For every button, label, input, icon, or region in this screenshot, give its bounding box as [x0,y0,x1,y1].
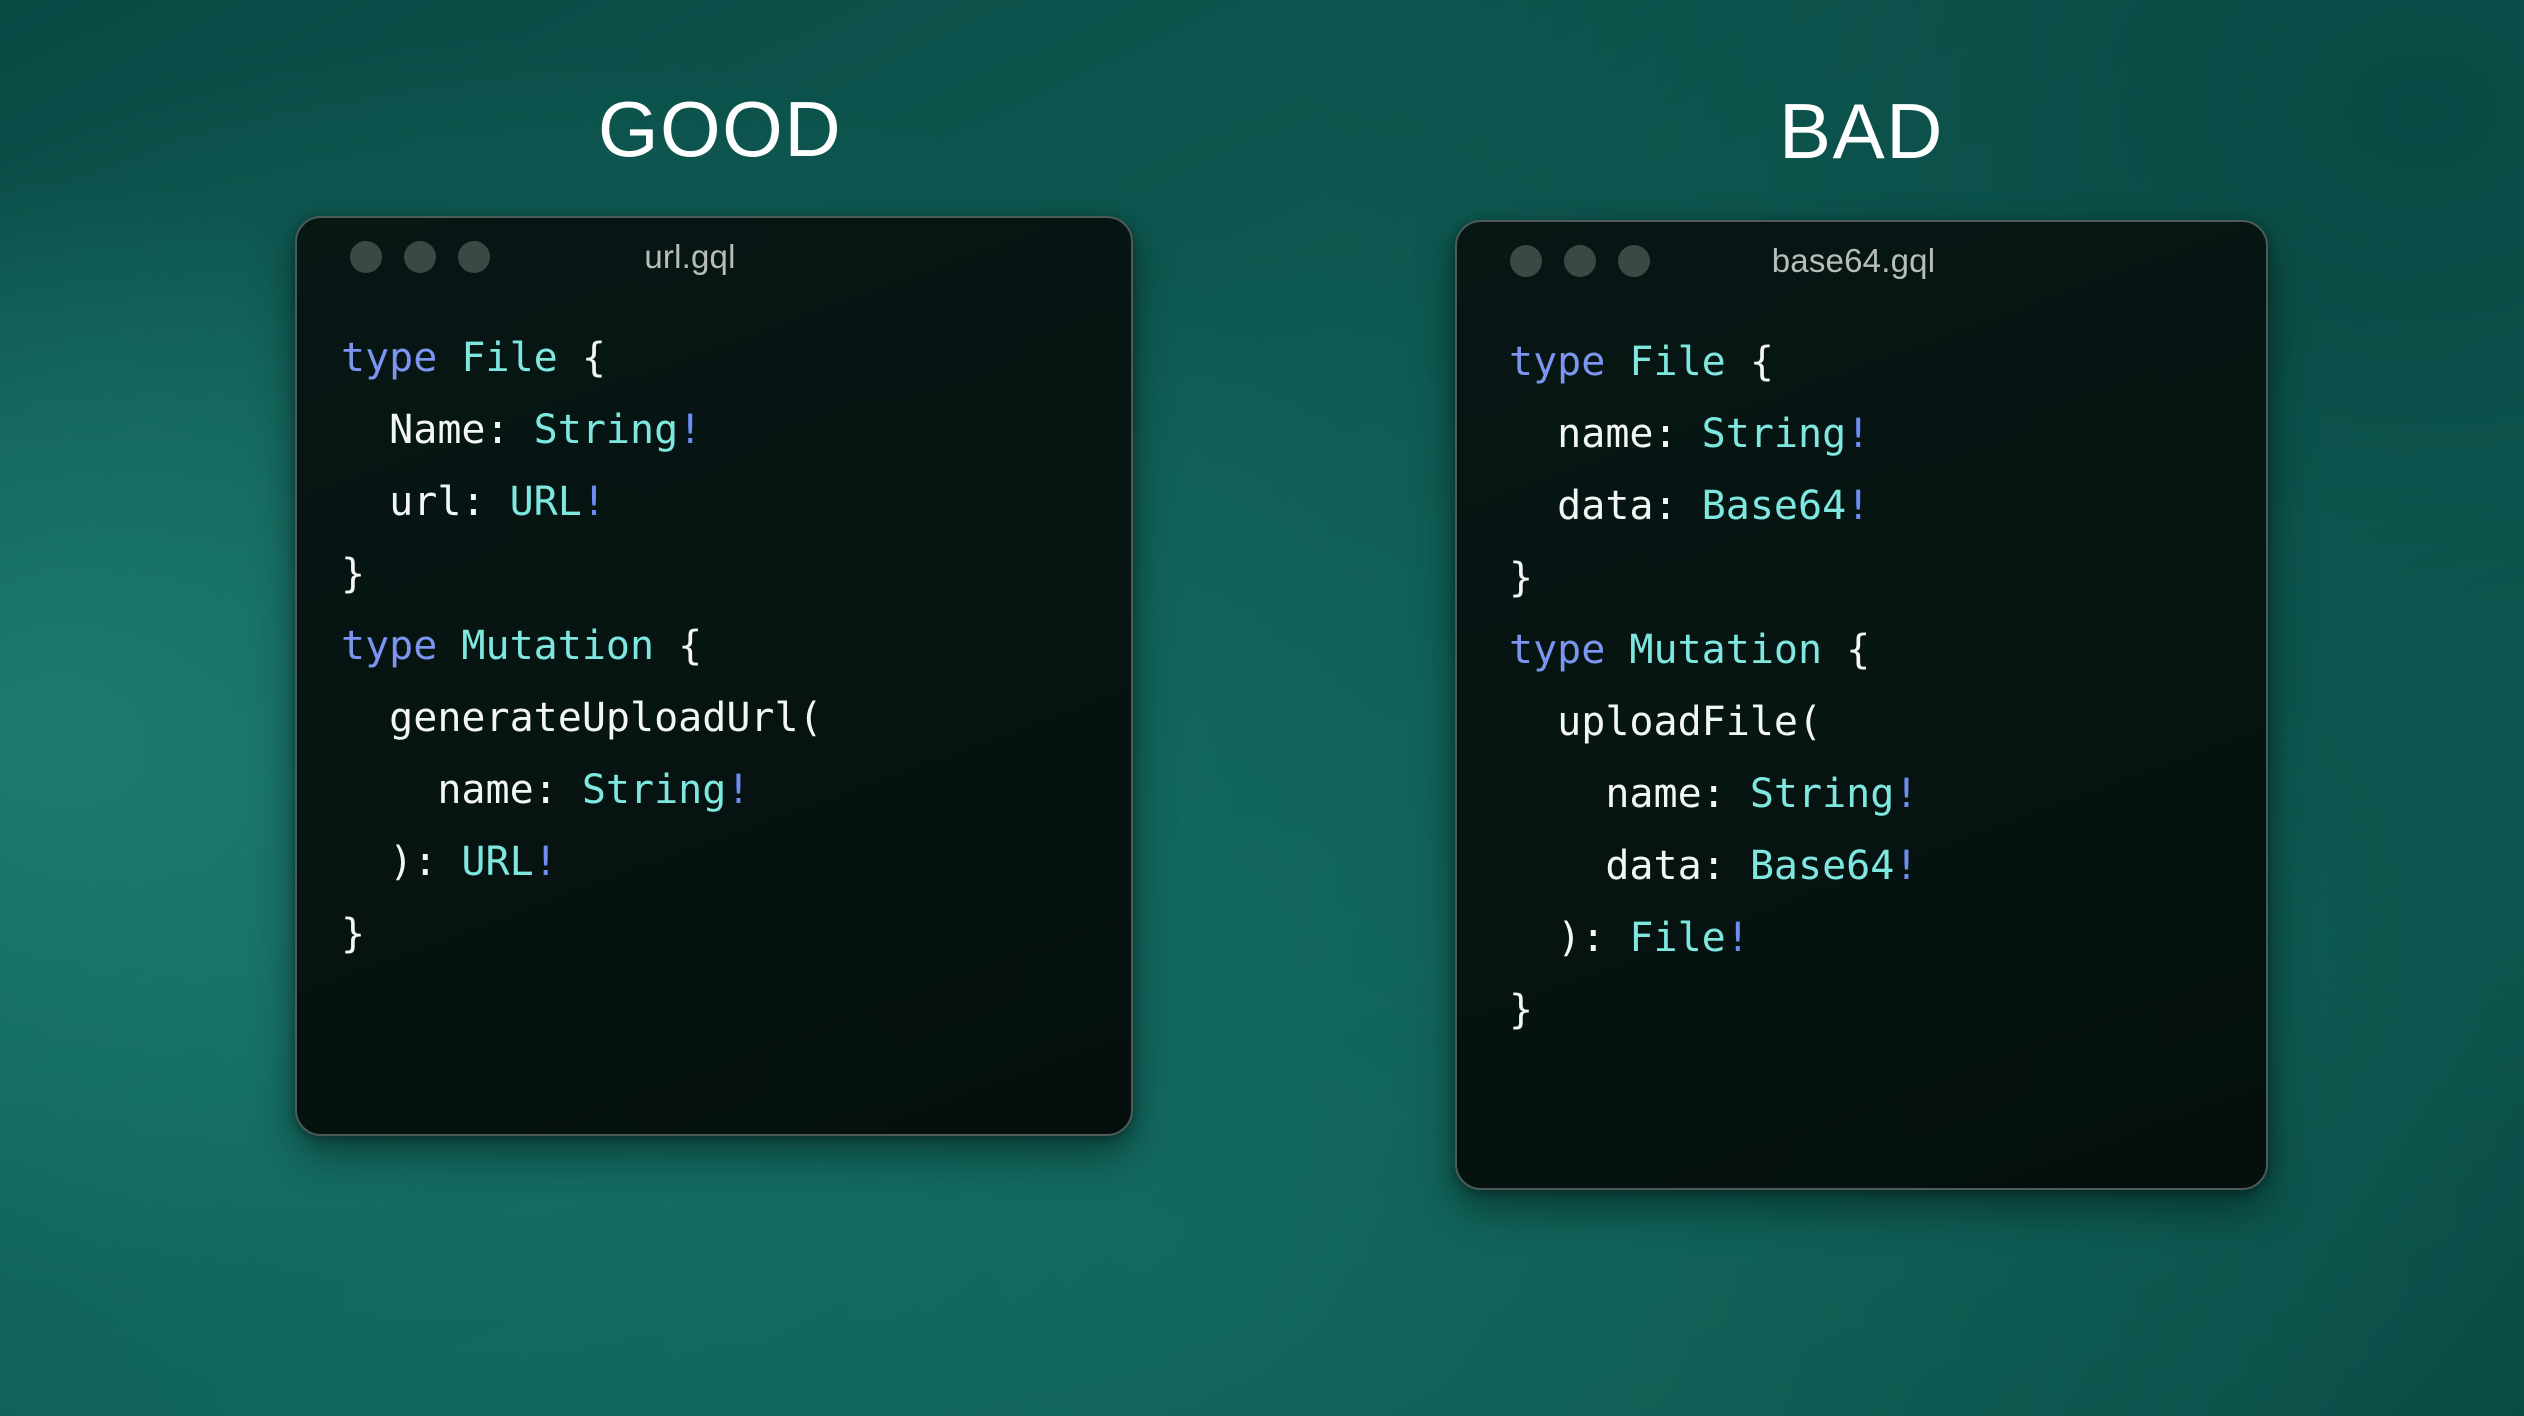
code-token: Base64 [1702,483,1847,529]
code-token [1605,339,1629,385]
minimize-dot-icon[interactable] [1564,245,1596,277]
close-dot-icon[interactable] [1510,245,1542,277]
code-token: File [1629,339,1725,385]
code-token: name: [1509,411,1702,457]
window-titlebar-bad: base64.gql [1457,222,2266,300]
code-line: name: String! [341,754,1131,826]
code-token [437,335,461,381]
maximize-dot-icon[interactable] [458,241,490,273]
code-line: type Mutation { [341,610,1131,682]
code-token: data: [1509,843,1750,889]
code-token [437,623,461,669]
code-token: ! [582,479,606,525]
code-line: } [1509,542,2266,614]
code-token: ! [1846,483,1870,529]
code-block-good: type File { Name: String! url: URL!}type… [297,296,1131,970]
code-line: url: URL! [341,466,1131,538]
code-token: { [558,335,606,381]
code-token: File [461,335,557,381]
code-line: } [341,898,1131,970]
code-card-good: url.gql type File { Name: String! url: U… [295,216,1133,1136]
code-token: Mutation [461,623,654,669]
code-token: String [582,767,727,813]
code-token: ! [1894,771,1918,817]
code-token: uploadFile( [1509,699,1822,745]
code-token: { [1822,627,1870,673]
code-token: ): [1509,915,1629,961]
maximize-dot-icon[interactable] [1618,245,1650,277]
code-line: name: String! [1509,758,2266,830]
code-token: Mutation [1629,627,1822,673]
code-token: type [341,623,437,669]
code-token: String [1750,771,1895,817]
code-token: } [341,911,365,957]
code-line: type File { [1509,326,2266,398]
window-controls-good [350,241,490,273]
code-token: ! [678,407,702,453]
code-token: name: [1509,771,1750,817]
code-token: url: [341,479,510,525]
window-titlebar-good: url.gql [297,218,1131,296]
code-token: { [654,623,702,669]
code-line: uploadFile( [1509,686,2266,758]
code-token [1605,627,1629,673]
close-dot-icon[interactable] [350,241,382,273]
code-token: String [534,407,679,453]
code-token: } [1509,987,1533,1033]
window-controls-bad [1510,245,1650,277]
code-line: Name: String! [341,394,1131,466]
code-line: data: Base64! [1509,470,2266,542]
code-line: } [1509,974,2266,1046]
code-line: type File { [341,322,1131,394]
code-token: URL [461,839,533,885]
code-token: generateUploadUrl( [341,695,823,741]
code-token: ): [341,839,461,885]
code-token: data: [1509,483,1702,529]
code-line: ): URL! [341,826,1131,898]
minimize-dot-icon[interactable] [404,241,436,273]
code-line: generateUploadUrl( [341,682,1131,754]
code-token: ! [534,839,558,885]
code-token: type [1509,339,1605,385]
code-token: ! [1726,915,1750,961]
code-card-bad: base64.gql type File { name: String! dat… [1455,220,2268,1190]
code-token: Base64 [1750,843,1895,889]
code-block-bad: type File { name: String! data: Base64!}… [1457,300,2266,1046]
code-token: Name: [341,407,534,453]
code-token: ! [1846,411,1870,457]
code-token: } [1509,555,1533,601]
code-token: name: [341,767,582,813]
code-token: } [341,551,365,597]
code-line: } [341,538,1131,610]
code-token: String [1702,411,1847,457]
panel-title-good: GOOD [300,90,1140,168]
comparison-slide: GOOD url.gql type File { Name: String! u… [0,0,2524,1416]
code-line: type Mutation { [1509,614,2266,686]
code-token: URL [510,479,582,525]
code-token: type [1509,627,1605,673]
code-token: ! [726,767,750,813]
code-token: ! [1894,843,1918,889]
code-token: type [341,335,437,381]
code-token: { [1726,339,1774,385]
code-line: ): File! [1509,902,2266,974]
code-line: name: String! [1509,398,2266,470]
panel-title-bad: BAD [1455,92,2268,170]
code-line: data: Base64! [1509,830,2266,902]
code-token: File [1629,915,1725,961]
